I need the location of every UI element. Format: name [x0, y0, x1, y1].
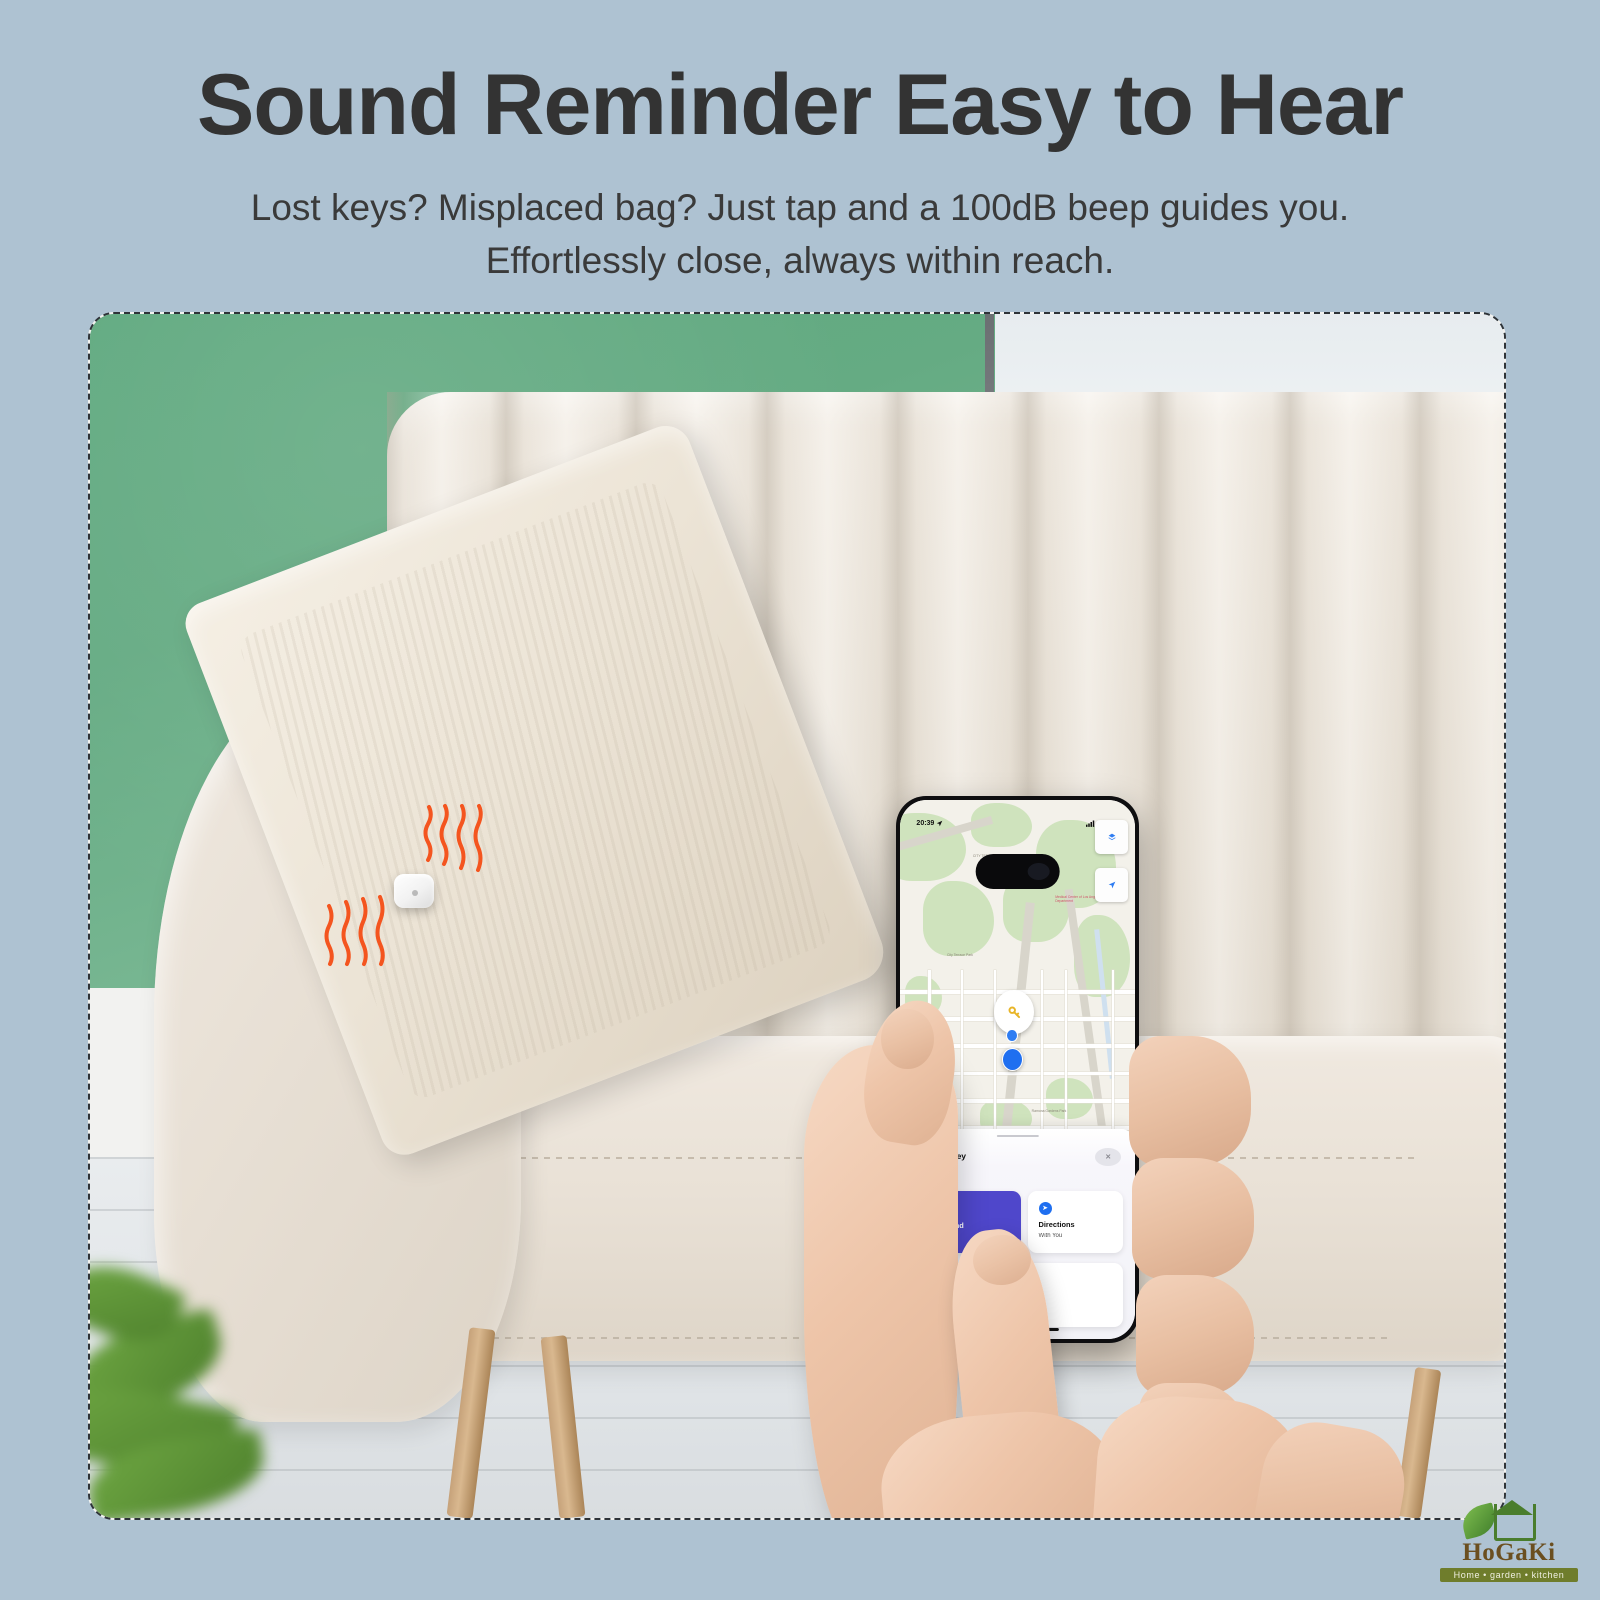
- dynamic-island: [975, 854, 1060, 889]
- cellular-signal-icon: [1086, 820, 1095, 827]
- page-title: Sound Reminder Easy to Hear: [0, 62, 1600, 148]
- subtitle-line-1: Lost keys? Misplaced bag? Just tap and a…: [0, 182, 1600, 235]
- recenter-location-icon[interactable]: [1095, 868, 1128, 902]
- subtitle-line-2: Effortlessly close, always within reach.: [0, 235, 1600, 288]
- close-icon[interactable]: ✕: [1095, 1148, 1121, 1166]
- sound-waves-lower: [323, 892, 413, 972]
- header-block: Sound Reminder Easy to Hear Lost keys? M…: [0, 0, 1600, 300]
- leaf-house-logo-icon: [1440, 1500, 1578, 1542]
- location-arrow-icon: [936, 820, 943, 827]
- brand-name: HoGaKi: [1440, 1540, 1578, 1565]
- brand-logo: HoGaKi Home • garden • kitchen: [1440, 1500, 1578, 1582]
- lower-hand: [882, 1398, 1391, 1520]
- sound-waves-upper: [422, 784, 512, 864]
- map-layers-icon[interactable]: [1095, 820, 1128, 854]
- foreground-plant: [88, 1253, 316, 1518]
- product-photo: 20:39: [88, 312, 1506, 1520]
- status-left: 20:39: [916, 820, 943, 827]
- status-time: 20:39: [916, 820, 934, 827]
- map-label: City Terrace Park: [947, 953, 973, 957]
- page-subtitle: Lost keys? Misplaced bag? Just tap and a…: [0, 182, 1600, 287]
- brand-tagline: Home • garden • kitchen: [1440, 1568, 1578, 1582]
